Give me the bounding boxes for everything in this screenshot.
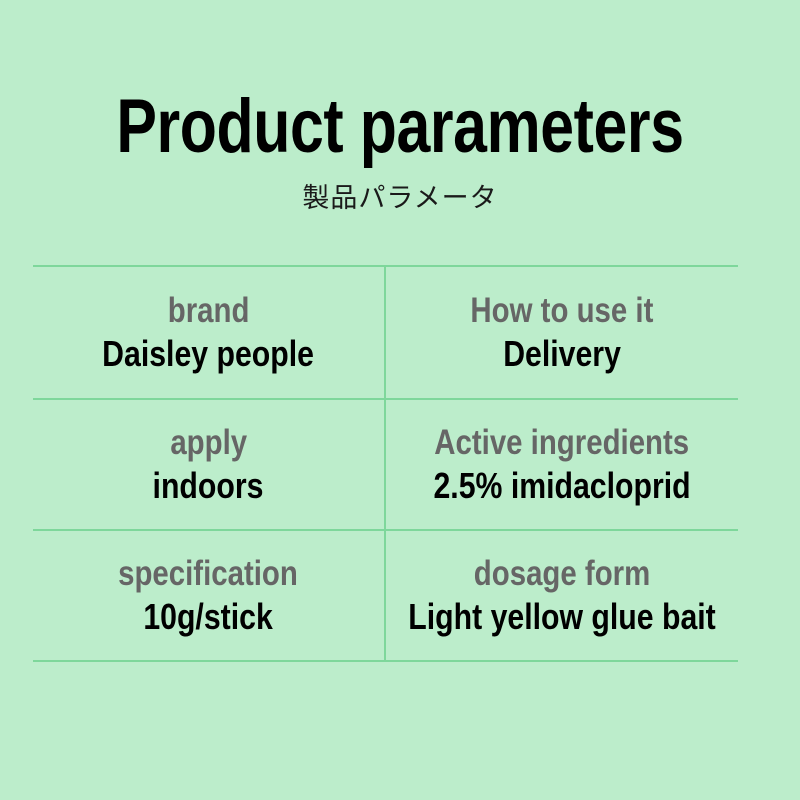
table-row: apply indoors Active ingredients 2.5% im… [33, 398, 738, 529]
spec-label: Active ingredients [434, 423, 689, 463]
spec-label: How to use it [470, 291, 653, 331]
spec-value: 10g/stick [144, 596, 273, 638]
spec-value: Light yellow glue bait [408, 596, 715, 638]
spec-label: specification [118, 554, 298, 594]
spec-label: brand [167, 291, 249, 331]
spec-value: 2.5% imidacloprid [433, 465, 690, 507]
spec-label: apply [170, 423, 247, 463]
spec-cell-active-ingredients: Active ingredients 2.5% imidacloprid [386, 400, 739, 529]
spec-value: indoors [153, 465, 264, 507]
spec-cell-brand: brand Daisley people [33, 267, 386, 398]
spec-value: Daisley people [102, 333, 314, 375]
spec-table: brand Daisley people How to use it Deliv… [33, 265, 738, 662]
spec-cell-apply: apply indoors [33, 400, 386, 529]
spec-cell-specification: specification 10g/stick [33, 531, 386, 660]
product-parameters-page: Product parameters 製品パラメータ brand Daisley… [0, 0, 800, 800]
spec-label: dosage form [474, 554, 650, 594]
table-row: specification 10g/stick dosage form Ligh… [33, 529, 738, 660]
page-subtitle-japanese: 製品パラメータ [0, 182, 800, 216]
spec-cell-how-to-use-it: How to use it Delivery [386, 267, 739, 398]
page-header: Product parameters 製品パラメータ [0, 86, 800, 216]
spec-value: Delivery [503, 333, 621, 375]
spec-cell-dosage-form: dosage form Light yellow glue bait [386, 531, 739, 660]
page-title: Product parameters [80, 86, 720, 168]
table-row: brand Daisley people How to use it Deliv… [33, 267, 738, 398]
